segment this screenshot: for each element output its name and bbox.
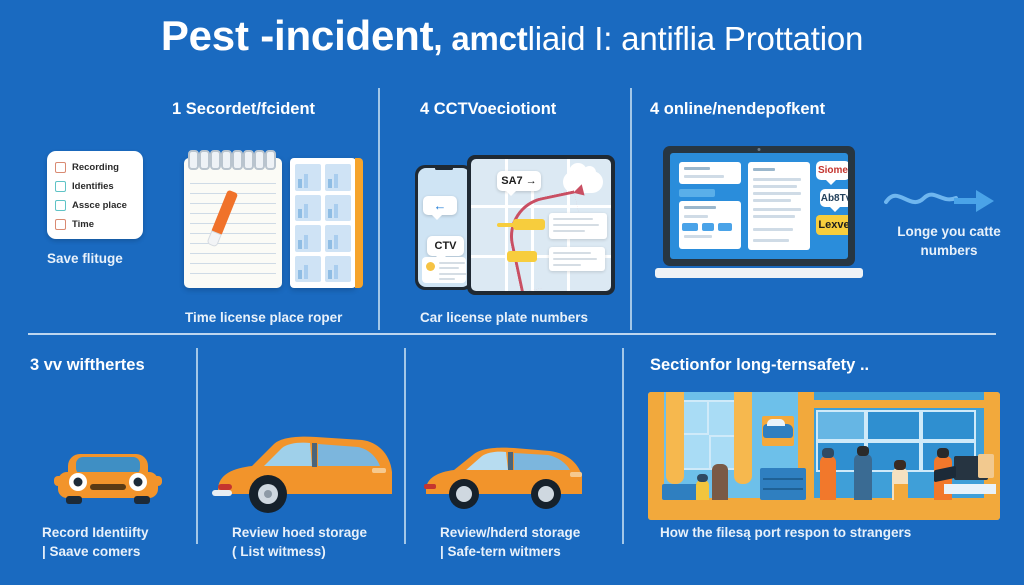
legend-item-label: Time bbox=[72, 219, 94, 230]
status-dot-icon bbox=[426, 262, 435, 271]
person-child bbox=[696, 480, 709, 500]
legend-item[interactable]: Time bbox=[55, 215, 135, 234]
caption-storage1-line1: Review hoed storage bbox=[232, 523, 367, 542]
tablet-map-icon: SA7 → bbox=[467, 155, 615, 295]
checkbox-icon[interactable] bbox=[55, 181, 66, 192]
caption-save-flituge: Save flituge bbox=[47, 251, 123, 266]
legend-card: Recording Identifies Assce place Time bbox=[47, 151, 143, 239]
person-office-2 bbox=[854, 454, 872, 500]
caption-storage2-line1: Review/hderd storage bbox=[440, 523, 580, 542]
map-info-card-2 bbox=[549, 247, 605, 271]
title-part-2: , amct bbox=[433, 20, 527, 57]
form-field-2[interactable] bbox=[679, 189, 715, 197]
cabinet-icon bbox=[978, 454, 994, 478]
curtain-left bbox=[666, 392, 684, 484]
section-heading-longterm: Sectionfor long-ternsafety .. bbox=[650, 356, 869, 375]
checkbox-icon[interactable] bbox=[55, 162, 66, 173]
legend-item[interactable]: Identifies bbox=[55, 177, 135, 196]
webcam-icon bbox=[758, 148, 761, 151]
notepad-icon bbox=[184, 158, 282, 288]
caption-storage-1: Review hoed storage ( List witmess) bbox=[232, 523, 367, 561]
tablet-screen: SA7 → bbox=[471, 159, 611, 291]
phone-info-card bbox=[422, 257, 466, 283]
tablet-sat-bubble: SA7 → bbox=[497, 171, 541, 191]
checkbox-icon[interactable] bbox=[55, 200, 66, 211]
framed-picture-icon bbox=[762, 416, 794, 446]
car-side-icon bbox=[420, 442, 588, 514]
page-title: Pest -incident, amctliaid I: antiflia Pr… bbox=[0, 12, 1024, 60]
phone-notch bbox=[435, 167, 453, 170]
alert-bubble: Siome bbox=[816, 161, 848, 180]
caption-longterm: How the filesą port respon to strangers bbox=[660, 525, 911, 540]
person-head bbox=[822, 448, 834, 458]
divider-bottom-2 bbox=[404, 348, 406, 544]
title-part-1: Pest -incident bbox=[161, 12, 434, 59]
checkbox-icon[interactable] bbox=[55, 219, 66, 230]
dresser-icon bbox=[760, 468, 806, 500]
legend-item-label: Recording bbox=[72, 162, 119, 173]
car-side-icon bbox=[212, 428, 398, 520]
person-skirt bbox=[894, 484, 908, 500]
person-head bbox=[937, 448, 949, 458]
phone-back-bubble: ← bbox=[423, 196, 457, 215]
phone-screen: ← CTV bbox=[418, 168, 470, 287]
document-spine bbox=[355, 158, 363, 288]
arrow-left-icon: ← bbox=[434, 198, 447, 213]
legend-item-label: Assce place bbox=[72, 200, 127, 211]
infographic-poster: Pest -incident, amctliaid I: antiflia Pr… bbox=[0, 0, 1024, 585]
caption-witness: Record Identiifty | Saave comers bbox=[42, 523, 149, 561]
title-part-3: liaid I: antiflia Prottation bbox=[528, 20, 864, 57]
scene-column-left bbox=[648, 392, 664, 498]
document-grid-icon bbox=[290, 158, 356, 288]
map-info-card-1 bbox=[549, 213, 607, 239]
leave-button[interactable]: Lexve bbox=[816, 215, 848, 235]
divider-top-1 bbox=[378, 88, 380, 330]
laptop-base bbox=[655, 268, 863, 278]
room-scene-icon bbox=[648, 392, 1000, 520]
arrow-note-line1: Longe you catte bbox=[884, 222, 1014, 241]
arrow-note-line2: numbers bbox=[884, 241, 1014, 260]
phone-ctv-bubble: CTV bbox=[427, 236, 464, 256]
caption-witness-line1: Record Identiifty bbox=[42, 523, 149, 542]
section-heading-witness: 3 vv wifthertes bbox=[30, 356, 145, 375]
caption-storage-2: Review/hderd storage | Safe-tern witmers bbox=[440, 523, 580, 561]
picture-car-icon bbox=[763, 424, 793, 438]
caption-car-license: Car license plate numbers bbox=[420, 310, 588, 325]
laptop-icon: Siome Ab8Tv Lexve bbox=[655, 146, 863, 278]
caption-storage1-line2: ( List witmess) bbox=[232, 542, 367, 561]
info-bubble: Ab8Tv bbox=[820, 189, 848, 207]
caption-storage2-line2: | Safe-tern witmers bbox=[440, 542, 580, 561]
legend-item[interactable]: Recording bbox=[55, 158, 135, 177]
laptop-lid: Siome Ab8Tv Lexve bbox=[663, 146, 855, 266]
scene-column-right bbox=[984, 392, 1000, 498]
form-field-1[interactable] bbox=[679, 162, 741, 184]
office-desk bbox=[944, 484, 996, 494]
divider-top-2 bbox=[630, 88, 632, 330]
spiral-binding-icon bbox=[188, 150, 280, 166]
smartphone-icon: ← CTV bbox=[415, 165, 473, 290]
caption-time-license: Time license place roper bbox=[185, 310, 342, 325]
section-heading-cctv: 4 CCTVoeciotiont bbox=[420, 100, 556, 119]
scene-floor bbox=[648, 498, 1000, 520]
child-head bbox=[697, 474, 708, 482]
document-thumbnails bbox=[295, 164, 351, 282]
section-heading-incident: 1 Secordet/fcident bbox=[172, 100, 315, 119]
legend-item-label: Identifies bbox=[72, 181, 114, 192]
person-head bbox=[857, 446, 869, 456]
arrow-note: Longe you catte numbers bbox=[884, 222, 1014, 260]
laptop-screen: Siome Ab8Tv Lexve bbox=[670, 153, 848, 259]
form-button-1[interactable] bbox=[682, 223, 698, 231]
wavy-arrow-icon bbox=[884, 182, 1004, 216]
divider-bottom-1 bbox=[196, 348, 198, 544]
content-list bbox=[748, 162, 810, 250]
curtain-right bbox=[734, 392, 752, 484]
map-callout-2 bbox=[507, 251, 537, 262]
car-front-icon bbox=[52, 448, 164, 510]
person-head bbox=[894, 460, 906, 470]
section-heading-online: 4 online/nendepofkent bbox=[650, 100, 825, 119]
form-button-2[interactable] bbox=[702, 223, 714, 231]
person-office-1 bbox=[820, 456, 836, 500]
divider-bottom-3 bbox=[622, 348, 624, 544]
notepad-lines bbox=[190, 174, 276, 282]
legend-item[interactable]: Assce place bbox=[55, 196, 135, 215]
divider-horizontal bbox=[28, 333, 996, 335]
form-button-3[interactable] bbox=[718, 223, 732, 231]
person-adult bbox=[712, 464, 728, 500]
caption-witness-line2: | Saave comers bbox=[42, 542, 149, 561]
